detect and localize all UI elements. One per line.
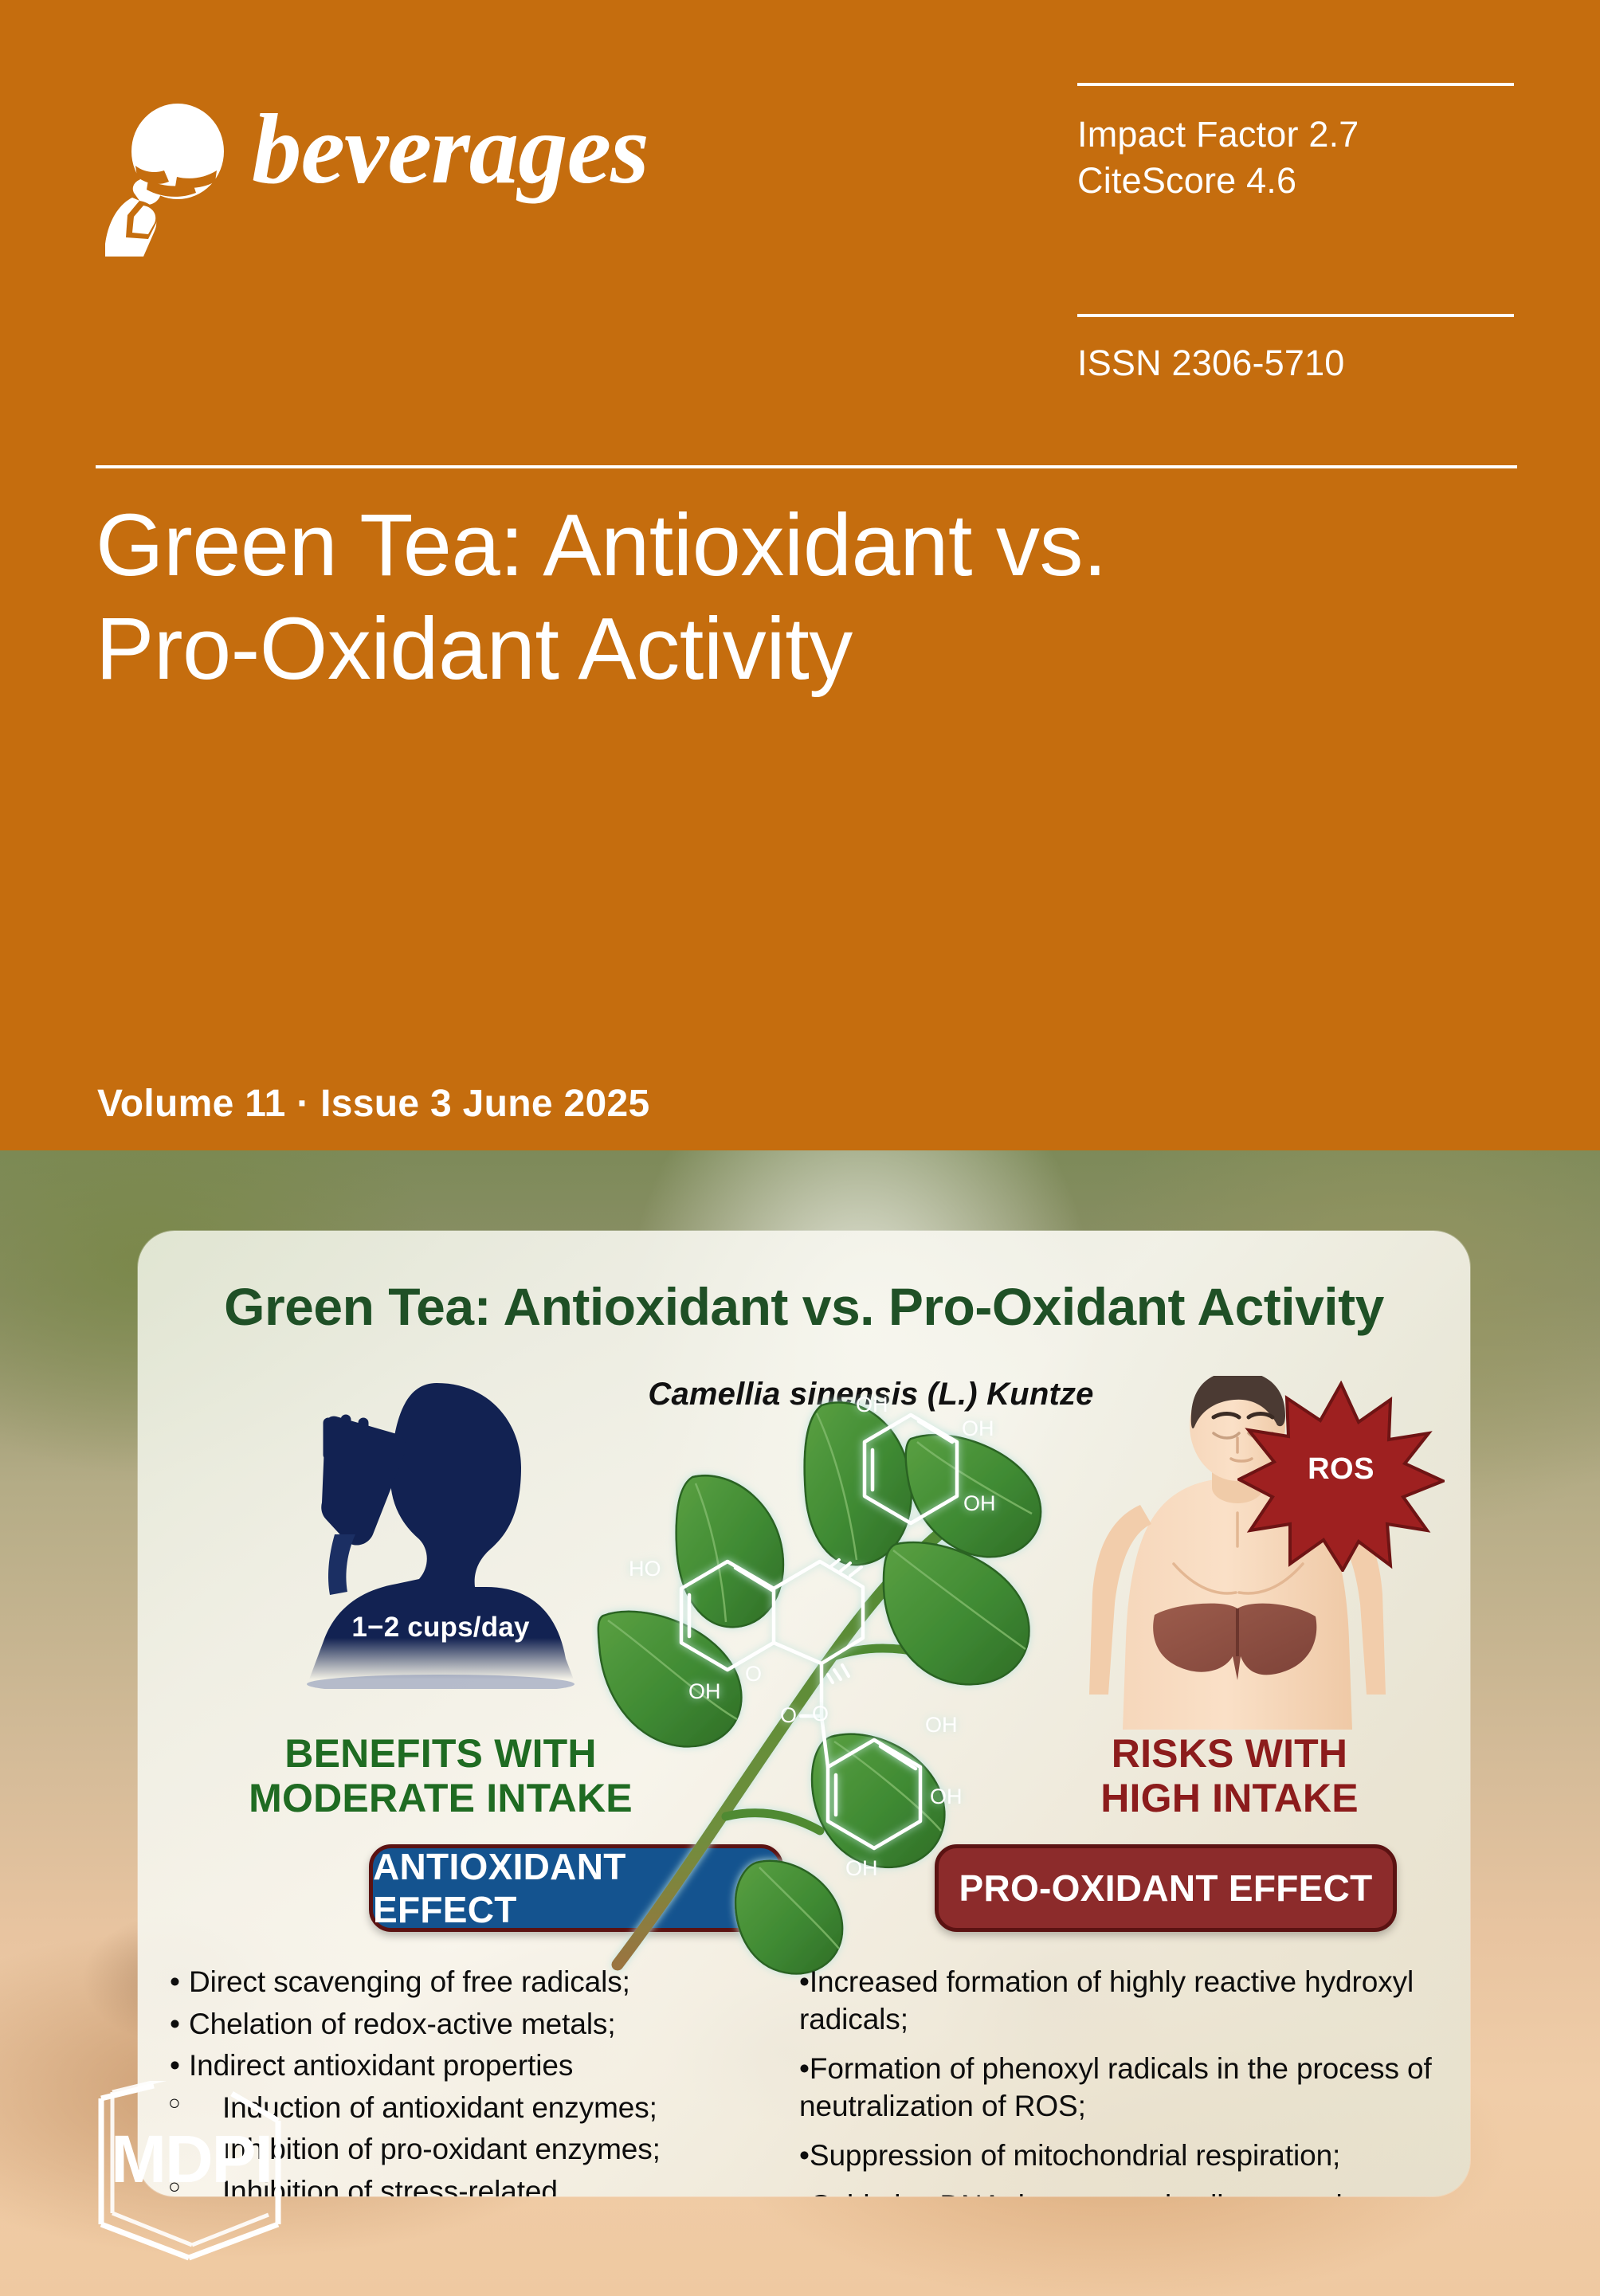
risks-heading: RISKS WITH HIGH INTAKE <box>951 1731 1470 1820</box>
list-item-text: Direct scavenging of free radicals; <box>189 1965 630 1998</box>
molecule-label-ho: HO <box>629 1557 661 1581</box>
masthead-band: beverages Impact Factor 2.7 CiteScore 4.… <box>0 0 1600 1150</box>
list-item: •Suppression of mitochondrial respiratio… <box>799 2137 1437 2175</box>
pro-oxidant-effect-button[interactable]: PRO-OXIDANT EFFECT <box>935 1844 1397 1932</box>
journal-cover: beverages Impact Factor 2.7 CiteScore 4.… <box>0 0 1600 2296</box>
cover-title: Green Tea: Antioxidant vs. Pro-Oxidant A… <box>96 494 1291 701</box>
publisher-name: MDPI <box>84 2121 299 2198</box>
volume-issue-line: Volume 11 · Issue 3 June 2025 <box>97 1082 650 1126</box>
molecule-label-oh-d3: OH <box>845 1856 878 1880</box>
risks-bullet-list: •Increased formation of highly reactive … <box>799 1964 1437 2196</box>
benefits-heading-line2: MODERATE INTAKE <box>249 1776 633 1820</box>
coffee-cup-steam-icon <box>96 104 247 259</box>
list-item: •Chelation of redox-active metals; <box>170 2006 775 2043</box>
list-item-text: Oxidative DNA damage and cell apoptosis … <box>799 2189 1357 2196</box>
metrics-block: Impact Factor 2.7 CiteScore 4.6 <box>1077 83 1516 203</box>
bullet-dot-icon: • <box>170 2006 189 2043</box>
list-item-text: Chelation of redox-active metals; <box>189 2008 616 2040</box>
molecule-label-o-carbonyl: O <box>780 1703 797 1727</box>
ros-label: ROS <box>1237 1452 1445 1487</box>
pro-oxidant-effect-label: PRO-OXIDANT EFFECT <box>959 1867 1372 1910</box>
molecule-label-oh-b2: OH <box>962 1416 994 1440</box>
bullet-dot-icon: • <box>799 1965 810 1998</box>
list-item-text: Indirect antioxidant properties <box>189 2049 573 2082</box>
molecule-label-oh-a: OH <box>688 1679 721 1703</box>
list-item: •Indirect antioxidant properties <box>170 2047 775 2085</box>
molecule-label-o-ester: O <box>812 1702 829 1726</box>
cups-per-day-label: 1−2 cups/day <box>277 1612 604 1644</box>
abstract-title: Green Tea: Antioxidant vs. Pro-Oxidant A… <box>138 1276 1470 1337</box>
journal-logo[interactable]: beverages <box>96 104 669 263</box>
bullet-dot-icon: • <box>799 2139 810 2172</box>
list-item: •Increased formation of highly reactive … <box>799 1964 1437 2038</box>
list-item-text: Increased formation of highly reactive h… <box>799 1965 1414 2035</box>
journal-name: beverages <box>252 100 649 200</box>
molecule-label-oh-b3: OH <box>963 1491 996 1515</box>
list-item: •Direct scavenging of free radicals; <box>170 1964 775 2001</box>
list-item-text: Suppression of mitochondrial respiration… <box>810 2139 1340 2172</box>
risks-heading-line2: HIGH INTAKE <box>1100 1776 1359 1820</box>
benefits-heading-line1: BENEFITS WITH <box>284 1731 596 1776</box>
impact-factor: Impact Factor 2.7 <box>1077 112 1516 158</box>
bullet-dot-icon: • <box>170 2047 189 2085</box>
list-item: •Formation of phenoxyl radicals in the p… <box>799 2051 1437 2125</box>
title-divider <box>96 465 1517 468</box>
molecule-label-o-ring: O <box>745 1662 762 1686</box>
bullet-dot-icon: • <box>799 2189 810 2196</box>
risks-heading-line1: RISKS WITH <box>1112 1731 1347 1776</box>
list-item: •Oxidative DNA damage and cell apoptosis… <box>799 2188 1437 2196</box>
molecule-label-oh-b1: OH <box>856 1394 888 1416</box>
bullet-dot-icon: • <box>799 2052 810 2085</box>
cite-score: CiteScore 4.6 <box>1077 158 1516 204</box>
issn-value: ISSN 2306-5710 <box>1077 317 1516 384</box>
issn-block: ISSN 2306-5710 <box>1077 314 1516 384</box>
graphical-abstract-panel: Green Tea: Antioxidant vs. Pro-Oxidant A… <box>138 1231 1470 2196</box>
list-item-text: Formation of phenoxyl radicals in the pr… <box>799 2052 1432 2122</box>
bullet-dot-icon: • <box>170 1964 189 2001</box>
